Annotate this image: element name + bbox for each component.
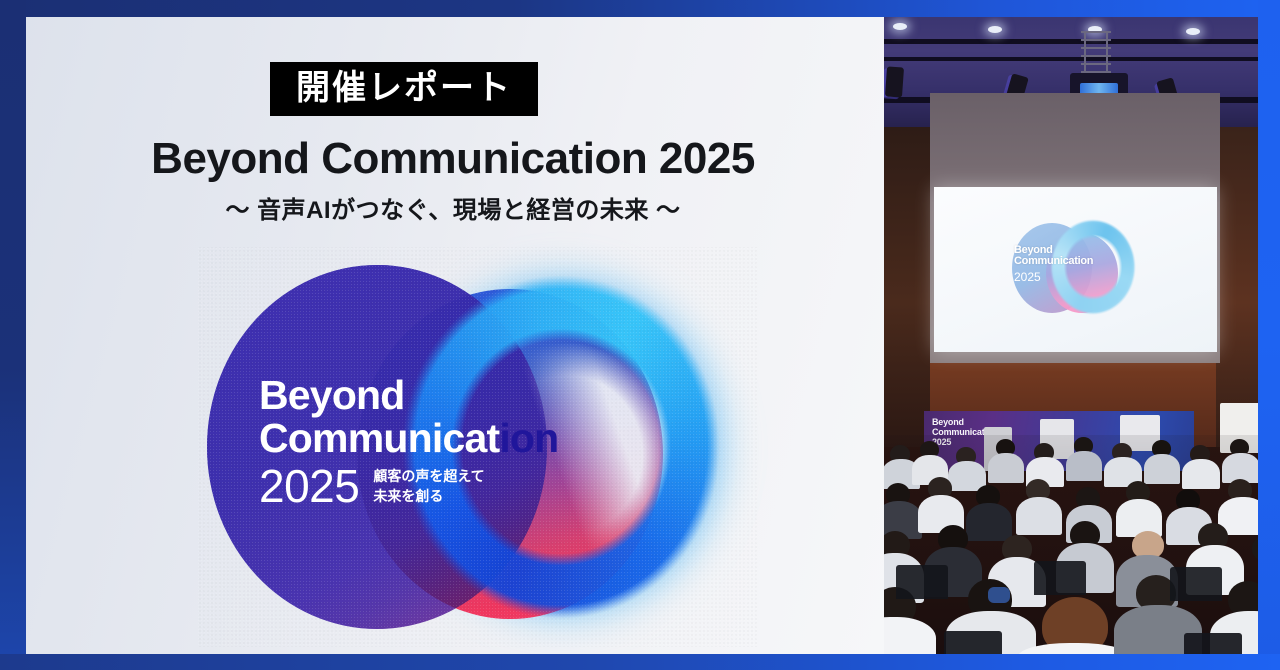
logo-tagline: 顧客の声を超えて 未来を創る: [373, 466, 484, 507]
logo-communicat-text: Communicat: [259, 415, 499, 461]
logo-line-communication: Communication: [259, 418, 729, 458]
photo-downlight-1: [893, 23, 907, 30]
photo-screen-logo: Beyond Communication 2025: [1006, 215, 1146, 327]
page-title: Beyond Communication 2025: [22, 135, 884, 183]
audience-chair: [1034, 561, 1086, 595]
photo-screen-logo-line2: Communication: [1014, 256, 1093, 267]
audience-chair: [944, 631, 1002, 655]
event-logo: Beyond Communication 2025 顧客の声を超えて 未来を創る: [197, 247, 757, 647]
audience-body: [884, 617, 936, 655]
frame-bottom-edge: [0, 654, 1280, 670]
report-badge: 開催レポート: [270, 62, 538, 116]
audience-body: [1066, 451, 1102, 481]
audience-hair-accessory: [988, 587, 1010, 603]
logo-bottom-row: 2025 顧客の声を超えて 未来を創る: [259, 463, 729, 509]
left-content-panel: 開催レポート Beyond Communication 2025 〜 音声AIが…: [22, 15, 884, 655]
audience-chair: [1184, 633, 1242, 655]
audience-chair: [896, 565, 948, 599]
audience-chair: [1170, 567, 1222, 601]
photo-spotlight-3: [885, 66, 904, 97]
audience-body: [988, 453, 1024, 483]
logo-lockup: Beyond Communication 2025 顧客の声を超えて 未来を創る: [259, 375, 729, 509]
photo-downlight-2: [988, 26, 1002, 33]
photo-audience: [884, 435, 1280, 655]
photo-screen-logo-year: 2025: [1014, 271, 1041, 283]
conference-photo: Beyond Communication 2025 Beyond Communi…: [884, 15, 1280, 655]
photo-downlight-4: [1186, 28, 1200, 35]
logo-tagline-line1: 顧客の声を超えて: [373, 466, 484, 486]
audience-body: [966, 503, 1012, 541]
audience-body: [1144, 454, 1180, 484]
poster-card: 開催レポート Beyond Communication 2025 〜 音声AIが…: [22, 15, 1280, 655]
frame-top-edge: [0, 0, 1280, 17]
photo-banner-line1: Beyond: [932, 417, 997, 427]
logo-tagline-line2: 未来を創る: [373, 486, 484, 506]
poster-root: 開催レポート Beyond Communication 2025 〜 音声AIが…: [0, 0, 1280, 670]
frame-left-edge: [0, 0, 26, 670]
page-subtitle: 〜 音声AIがつなぐ、現場と経営の未来 〜: [22, 197, 884, 226]
audience-body: [1016, 497, 1062, 535]
photo-lighting-rig: [1081, 31, 1111, 75]
logo-ion-text: ion: [499, 415, 558, 461]
photo-wall-left: [884, 127, 930, 447]
logo-year: 2025: [259, 463, 359, 509]
frame-right-edge: [1258, 0, 1280, 670]
logo-line-beyond: Beyond: [259, 375, 729, 415]
audience-body: [1182, 459, 1220, 489]
audience-body: [1116, 499, 1162, 537]
photo-screen-logo-text: Beyond Communication: [1014, 245, 1093, 267]
